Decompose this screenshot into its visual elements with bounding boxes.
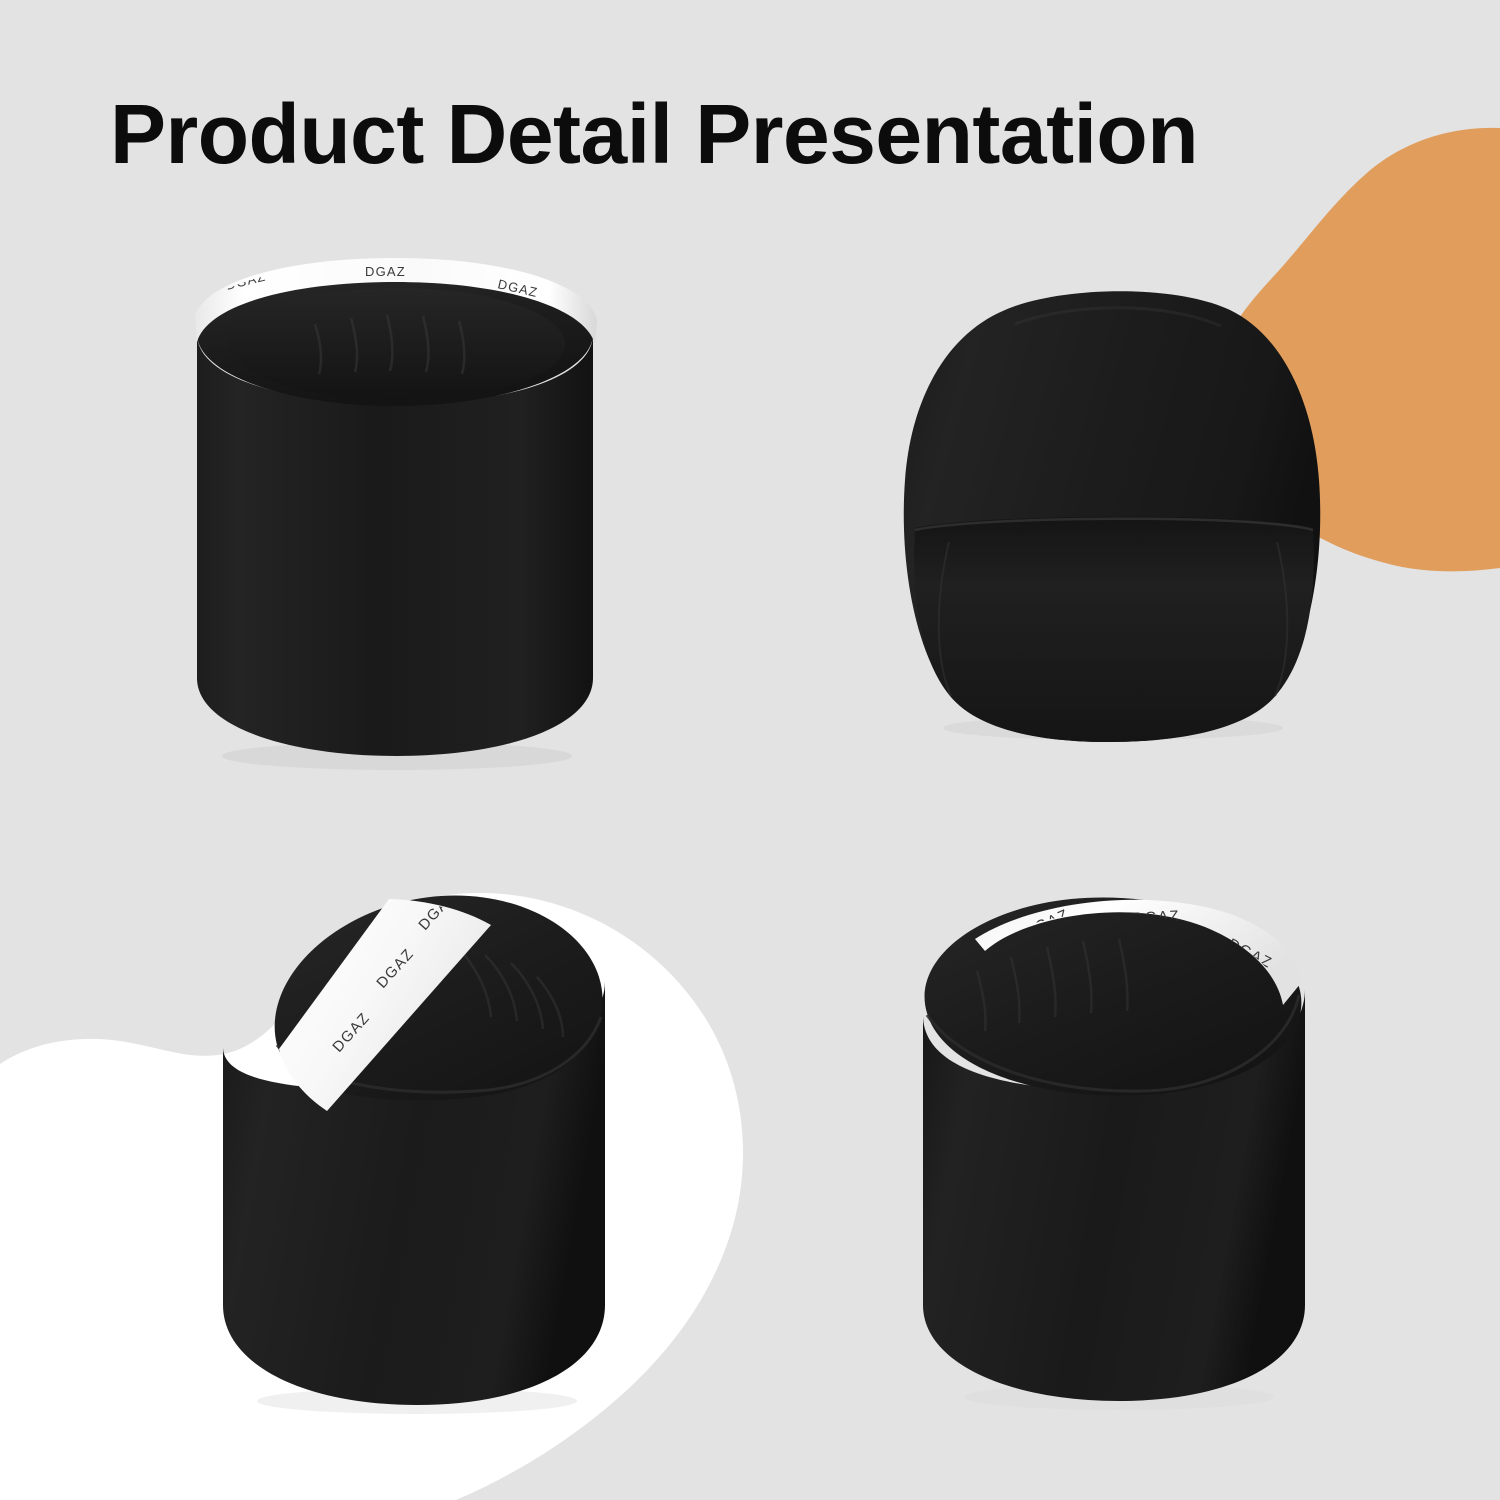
- product-image-bottom-left[interactable]: DGAZ DGAZ DGAZ: [185, 885, 645, 1425]
- ottoman-base-flap: [914, 517, 1314, 742]
- product-image-top-left[interactable]: DGAZ DGAZ DGAZ: [175, 248, 625, 768]
- product-image-top-right[interactable]: [885, 280, 1345, 750]
- page-title: Product Detail Presentation: [110, 92, 1198, 176]
- presentation-canvas: Product Detail Presentation: [0, 0, 1500, 1500]
- ottoman-inner-cushion: [229, 288, 565, 400]
- brand-label: DGAZ: [365, 264, 406, 279]
- product-image-bottom-right[interactable]: DGAZ DGAZ DGAZ: [905, 885, 1335, 1415]
